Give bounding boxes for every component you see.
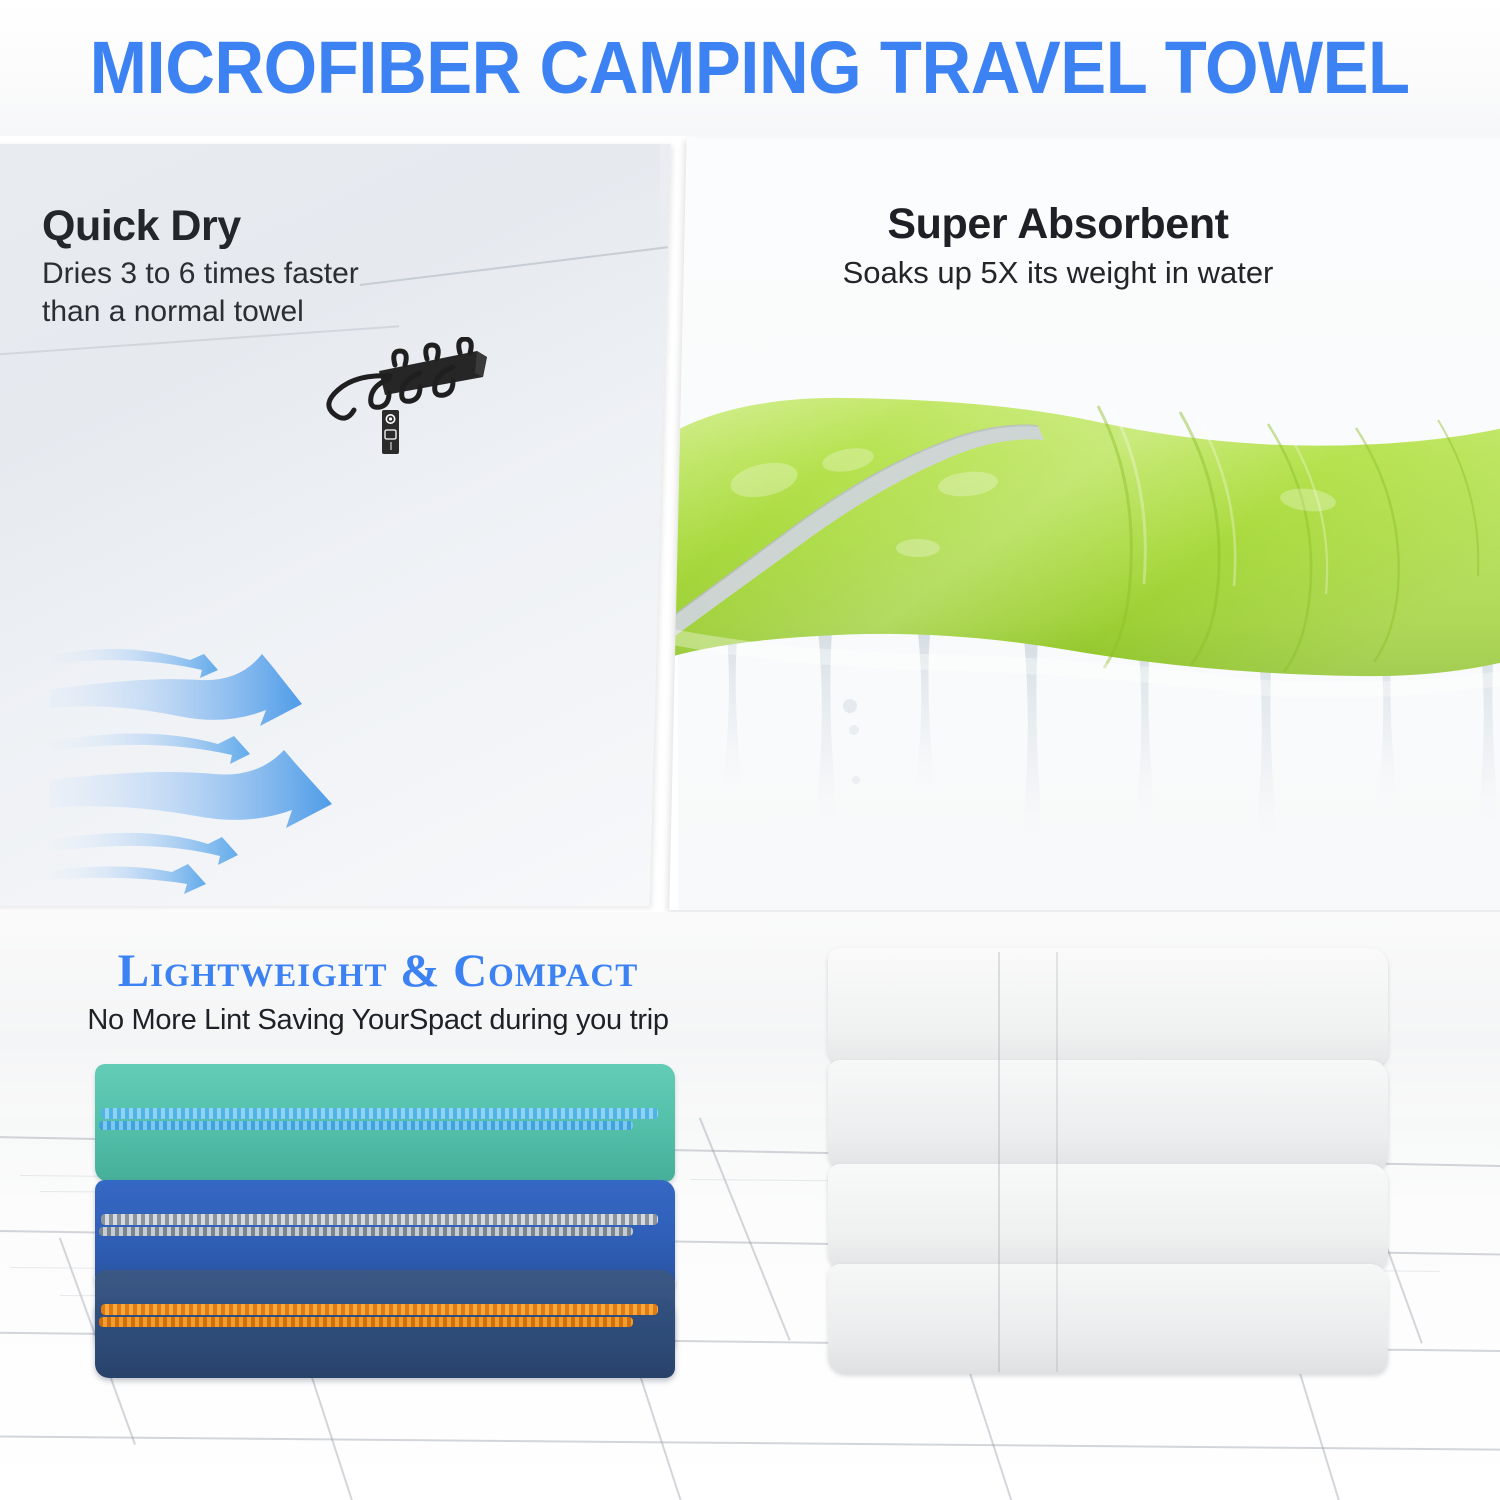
comparison-heading: Lightweight & Compact (48, 944, 708, 998)
top-feature-row: Quick Dry Dries 3 to 6 times faster than… (0, 136, 1500, 912)
list-item-white-towel-4 (828, 1264, 1388, 1374)
title-bar: MICROFIBER CAMPING TRAVEL TOWEL (0, 0, 1500, 136)
quick-dry-text-block: Quick Dry Dries 3 to 6 times faster than… (42, 202, 442, 332)
list-item-white-towel-2 (828, 1060, 1388, 1170)
airflow-arrows-icon (50, 634, 440, 904)
wall-hook-arm-icon (318, 370, 398, 440)
quick-dry-subtitle-line1: Dries 3 to 6 times faster (42, 255, 442, 293)
super-absorbent-subtitle: Soaks up 5X its weight in water (678, 255, 1438, 291)
towel-trim-lightblue-2 (99, 1121, 633, 1130)
panel-quick-dry: Quick Dry Dries 3 to 6 times faster than… (0, 144, 671, 906)
towel-seam-line (998, 952, 1000, 1372)
traditional-towel-stack (828, 948, 1388, 1378)
towel-seam-line-2 (1056, 952, 1058, 1372)
list-item-white-towel-3 (828, 1164, 1388, 1270)
towel-trim-gray (101, 1214, 658, 1225)
comparison-text-block: Lightweight & Compact No More Lint Savin… (48, 944, 708, 1037)
super-absorbent-heading: Super Absorbent (678, 200, 1438, 249)
towel-trim-orange (101, 1304, 658, 1315)
comparison-section: Lightweight & Compact No More Lint Savin… (0, 912, 1500, 1500)
microfiber-towel-stack (95, 1064, 675, 1374)
page-title: MICROFIBER CAMPING TRAVEL TOWEL (90, 31, 1410, 105)
towel-trim-orange-2 (99, 1317, 633, 1327)
quick-dry-subtitle: Dries 3 to 6 times faster than a normal … (42, 255, 442, 332)
super-absorbent-text-block: Super Absorbent Soaks up 5X its weight i… (678, 200, 1438, 291)
quick-dry-subtitle-line2: than a normal towel (42, 293, 442, 331)
list-item-white-towel-1 (828, 948, 1388, 1066)
wet-twisted-towel-image (669, 388, 1500, 888)
quick-dry-heading: Quick Dry (42, 202, 442, 251)
panel-super-absorbent: Super Absorbent Soaks up 5X its weight i… (669, 138, 1500, 910)
towel-trim-gray-2 (99, 1227, 633, 1236)
comparison-subtitle: No More Lint Saving YourSpact during you… (48, 1004, 708, 1037)
towel-trim-lightblue (101, 1108, 658, 1119)
